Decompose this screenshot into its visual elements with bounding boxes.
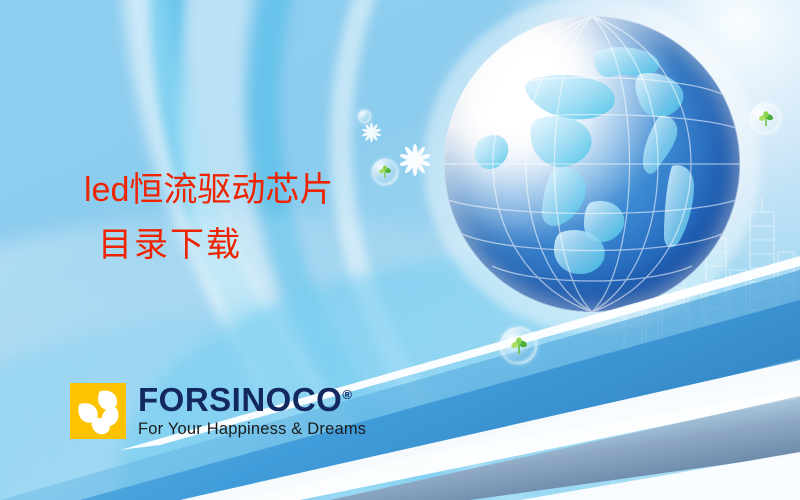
diagonal-ribbons: [0, 240, 800, 500]
logo-wordmark-text: FORSINOCO: [138, 381, 342, 418]
registered-trademark-symbol: ®: [342, 387, 352, 402]
logo-text-block: FORSINOCO® For Your Happiness & Dreams: [138, 383, 366, 439]
headline-text: led恒流驱动芯片 目录下载: [84, 162, 333, 274]
white-flower-large-icon: [398, 143, 432, 177]
green-sprout-icon: [757, 110, 775, 128]
white-flower-small-icon: [361, 122, 382, 143]
logo-tagline: For Your Happiness & Dreams: [138, 419, 366, 439]
green-sprout-icon: [378, 165, 393, 180]
bubble-sprout-right: [750, 103, 781, 134]
company-logo: FORSINOCO® For Your Happiness & Dreams: [70, 383, 366, 439]
bubble-sprout-lower: [500, 327, 537, 364]
poster-canvas: led恒流驱动芯片 目录下载 FORSINOCO® For Your Happ: [0, 0, 800, 500]
pinwheel-petals-icon: [70, 383, 126, 439]
logo-wordmark: FORSINOCO®: [138, 383, 366, 416]
four-petal-pinwheel-mark-icon: [70, 383, 126, 439]
bubble-sprout-center: [372, 159, 398, 185]
headline-line-1: led恒流驱动芯片: [84, 162, 333, 218]
bubble-small-left: [358, 110, 371, 123]
headline-line-2: 目录下载: [98, 218, 333, 274]
green-sprout-icon: [509, 336, 529, 356]
